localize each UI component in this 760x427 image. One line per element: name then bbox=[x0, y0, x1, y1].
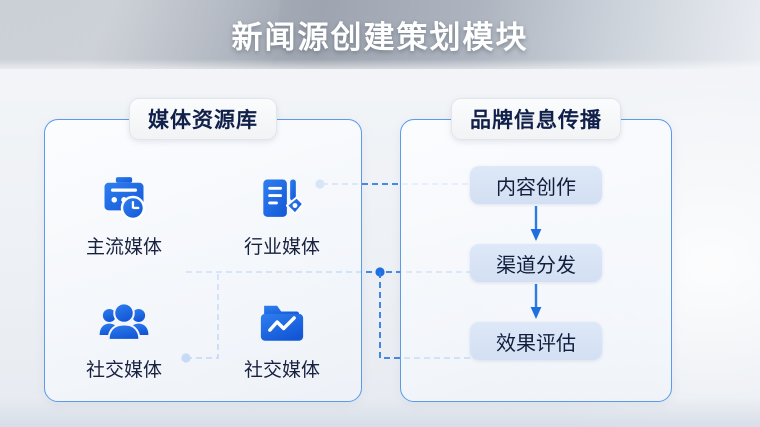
connector-dot-middle bbox=[375, 267, 384, 276]
media-item-social-folder[interactable]: 社交媒体 bbox=[203, 278, 361, 402]
media-item-label: 行业媒体 bbox=[244, 232, 320, 259]
flow-step-effect-evaluation[interactable]: 效果评估 bbox=[470, 322, 602, 360]
brand-flow-list: 内容创作 渠道分发 效果评估 bbox=[401, 166, 671, 401]
briefcase-clock-icon bbox=[98, 173, 150, 225]
media-resource-panel: 媒体资源库 bbox=[44, 119, 362, 402]
media-item-grid: 主流媒体 行业媒体 bbox=[45, 154, 361, 401]
media-item-social-people[interactable]: 社交媒体 bbox=[45, 278, 203, 402]
arrow-down-icon-2 bbox=[529, 282, 543, 322]
flow-step-channel-distribution[interactable]: 渠道分发 bbox=[470, 244, 602, 282]
brand-communication-panel-title: 品牌信息传播 bbox=[451, 98, 621, 140]
title-bar: 新闻源创建策划模块 bbox=[0, 0, 760, 69]
people-group-icon bbox=[98, 296, 150, 348]
page-title: 新闻源创建策划模块 bbox=[0, 0, 760, 69]
slide-canvas: 新闻源创建策划模块 媒体资源库 bbox=[0, 0, 760, 427]
media-item-mainstream[interactable]: 主流媒体 bbox=[45, 154, 203, 278]
media-item-label: 主流媒体 bbox=[86, 232, 162, 259]
flow-step-content-creation[interactable]: 内容创作 bbox=[470, 166, 602, 204]
media-item-label: 社交媒体 bbox=[86, 355, 162, 382]
arrow-down-icon-1 bbox=[529, 204, 543, 244]
folder-chart-icon bbox=[256, 296, 308, 348]
media-resource-panel-title: 媒体资源库 bbox=[129, 98, 277, 140]
media-item-industry[interactable]: 行业媒体 bbox=[203, 154, 361, 278]
document-tag-icon bbox=[256, 173, 308, 225]
brand-communication-panel: 品牌信息传播 内容创作 渠道分发 效果评估 bbox=[400, 119, 672, 402]
media-item-label: 社交媒体 bbox=[244, 355, 320, 382]
